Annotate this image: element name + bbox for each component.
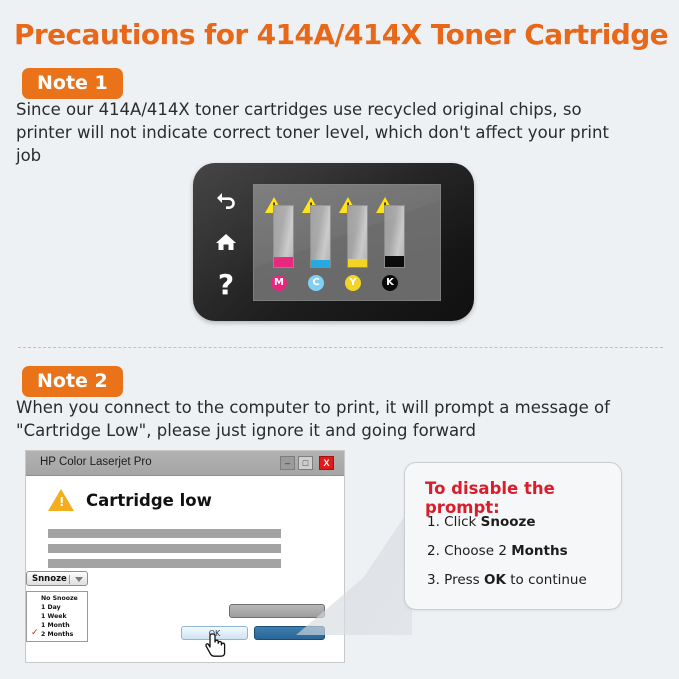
section-divider: [18, 347, 663, 348]
minimize-button[interactable]: –: [280, 456, 295, 470]
home-icon[interactable]: [206, 225, 246, 259]
placeholder-text-line: [48, 544, 281, 553]
back-arrow-icon[interactable]: [206, 183, 246, 217]
toner-fill: [385, 256, 404, 267]
close-button[interactable]: X: [319, 456, 334, 470]
toner-fill: [348, 259, 367, 267]
dialog-title: HP Color Laserjet Pro: [40, 456, 152, 468]
maximize-button[interactable]: □: [298, 456, 313, 470]
page-title: Precautions for 414A/414X Toner Cartridg…: [14, 18, 674, 51]
alert-row: Cartridge low: [48, 489, 212, 511]
printer-screen: ! M ! C ! Y ! K: [253, 184, 441, 301]
toner-bar: [310, 205, 331, 268]
printer-control-panel: ? ! M ! C ! Y ! K: [193, 163, 474, 321]
note-1-badge: Note 1: [22, 68, 123, 99]
callout-box: To disable the prompt: 1. Click Snooze 2…: [404, 462, 622, 610]
alert-heading: Cartridge low: [86, 491, 212, 510]
toner-fill: [274, 257, 293, 267]
snooze-dropdown-value: Snnoze: [32, 572, 67, 586]
warning-triangle-icon: [48, 489, 74, 511]
note-1-text: Since our 414A/414X toner cartridges use…: [16, 98, 636, 167]
placeholder-text-line: [48, 559, 281, 568]
chevron-down-icon: [75, 577, 83, 582]
toner-label-y: Y: [345, 275, 361, 291]
toner-fill: [311, 260, 330, 267]
help-icon[interactable]: ?: [206, 267, 246, 301]
snooze-option[interactable]: No Snooze: [27, 594, 87, 603]
snooze-dropdown[interactable]: Snnoze |: [26, 571, 88, 586]
secondary-button[interactable]: [229, 604, 325, 618]
callout-step-1: 1. Click Snooze: [427, 514, 536, 530]
toner-bar: [384, 205, 405, 268]
toner-label-k: K: [382, 275, 398, 291]
toner-gauge-yellow: ! Y: [339, 197, 375, 297]
toner-label-c: C: [308, 275, 324, 291]
toner-gauge-cyan: ! C: [302, 197, 338, 297]
note-2-badge: Note 2: [22, 366, 123, 397]
cursor-hand-icon: [205, 632, 231, 662]
snooze-option[interactable]: 1 Day: [27, 603, 87, 612]
toner-gauge-magenta: ! M: [265, 197, 301, 297]
toner-gauge-black: ! K: [376, 197, 412, 297]
toner-bar: [347, 205, 368, 268]
toner-bar: [273, 205, 294, 268]
check-icon: ✓: [31, 629, 39, 638]
toner-label-m: M: [271, 275, 287, 291]
snooze-option[interactable]: 1 Week: [27, 612, 87, 621]
callout-title: To disable the prompt:: [425, 479, 621, 517]
dialog-titlebar: HP Color Laserjet Pro – □ X: [26, 451, 344, 476]
placeholder-text-line: [48, 529, 281, 538]
snooze-option-selected[interactable]: ✓ 2 Months: [27, 630, 87, 639]
snooze-option-list[interactable]: No Snooze 1 Day 1 Week 1 Month ✓ 2 Month…: [26, 591, 88, 642]
dropdown-separator: |: [68, 573, 71, 587]
callout-step-2: 2. Choose 2 Months: [427, 543, 568, 559]
note-2-text: When you connect to the computer to prin…: [16, 396, 636, 442]
callout-step-3: 3. Press OK to continue: [427, 572, 587, 588]
primary-button[interactable]: [254, 626, 325, 640]
